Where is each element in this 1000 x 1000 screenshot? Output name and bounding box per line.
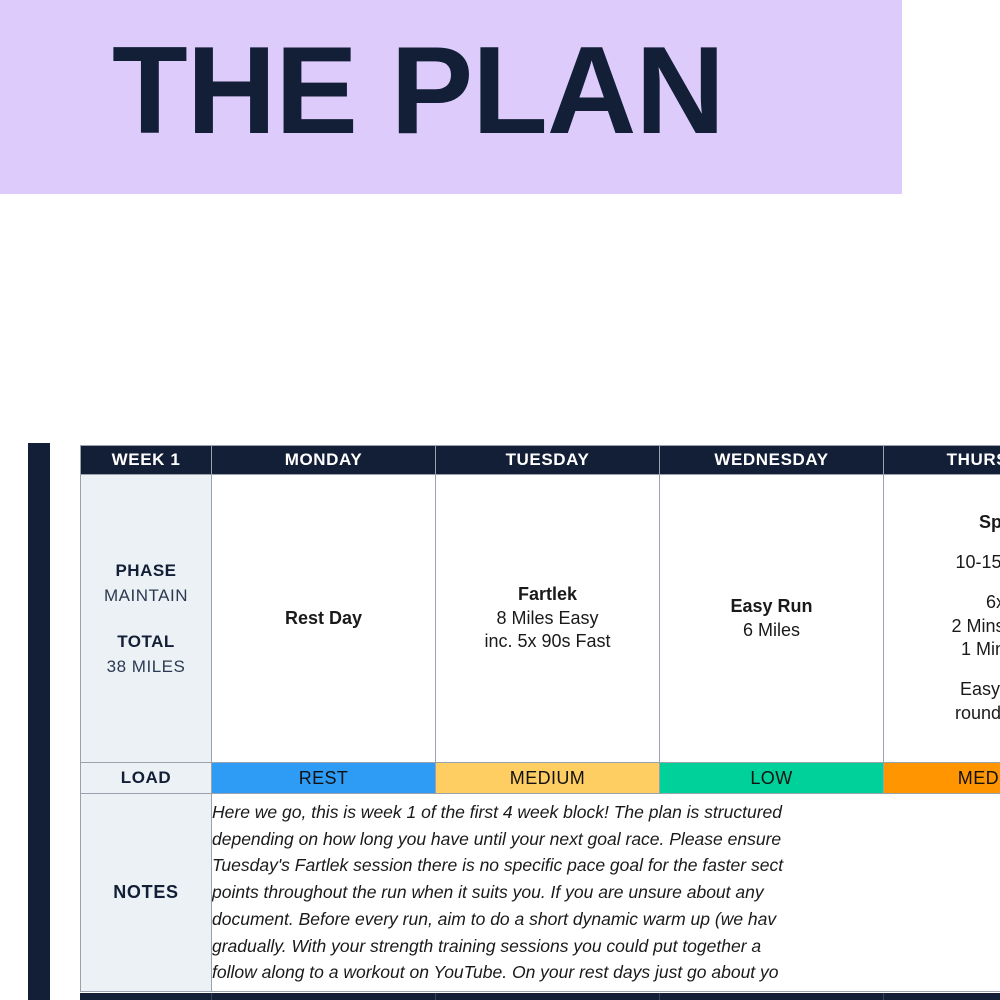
load-cell-wednesday[interactable]: LOW (660, 763, 884, 794)
notes-line-2: depending on how long you have until you… (212, 826, 1000, 853)
header-2-monday[interactable]: MONDAY (212, 994, 436, 1000)
load-cell-thursday[interactable]: MEDIUM (884, 763, 1000, 794)
notes-line-5: document. Before every run, aim to do a … (212, 906, 1000, 933)
header-2-tuesday[interactable]: TUESDAY (436, 994, 660, 1000)
notes-line-3: Tuesday's Fartlek session there is no sp… (212, 852, 1000, 879)
table-2-header-row: WEEK 2 MONDAY TUESDAY WEDNESDAY THURSDAY (81, 994, 1000, 1000)
page-title: THE PLAN (112, 26, 724, 156)
session-detail-thursday-4: 2 Mins at 5 (884, 615, 1000, 639)
session-title-wednesday: Easy Run (660, 595, 883, 619)
header-tuesday[interactable]: TUESDAY (436, 446, 660, 475)
load-row: LOAD REST MEDIUM LOW MEDIUM (81, 763, 1000, 794)
session-title-thursday: Spe (884, 511, 1000, 535)
sidebar-accent-strip (28, 443, 50, 1000)
session-cell-monday[interactable]: Rest Day (212, 475, 436, 763)
header-thursday[interactable]: THURSDAY (884, 446, 1000, 475)
total-value: 38 MILES (107, 657, 186, 676)
thursday-spacer-3 (884, 662, 1000, 678)
load-label: LOAD (81, 763, 212, 794)
session-detail-wednesday-1: 6 Miles (660, 619, 883, 643)
notes-line-7: follow along to a workout on YouTube. On… (212, 959, 1000, 986)
header-wednesday[interactable]: WEDNESDAY (660, 446, 884, 475)
notes-row: NOTES Here we go, this is week 1 of the … (81, 794, 1000, 992)
session-cell-tuesday[interactable]: Fartlek 8 Miles Easy inc. 5x 90s Fast (436, 475, 660, 763)
load-cell-monday[interactable]: REST (212, 763, 436, 794)
session-title-monday: Rest Day (212, 607, 435, 631)
title-banner: THE PLAN (0, 0, 902, 194)
sessions-row: PHASE MAINTAIN TOTAL 38 MILES Rest Day F… (81, 475, 1000, 763)
header-2-thursday[interactable]: THURSDAY (884, 994, 1000, 1000)
session-detail-thursday-7: Easy run (884, 678, 1000, 702)
session-cell-thursday[interactable]: Spe 10-15 Min 6x 2 Mins at 5 1 Minute Ea… (884, 475, 1000, 763)
session-detail-thursday-5: 1 Minute (884, 638, 1000, 662)
session-detail-thursday-3: 6x (884, 591, 1000, 615)
notes-line-4: points throughout the run when it suits … (212, 879, 1000, 906)
header-2-wednesday[interactable]: WEDNESDAY (660, 994, 884, 1000)
notes-line-1: Here we go, this is week 1 of the first … (212, 799, 1000, 826)
session-title-tuesday: Fartlek (436, 583, 659, 607)
thursday-spacer-2 (884, 575, 1000, 591)
training-plan-table-next-week: WEEK 2 MONDAY TUESDAY WEDNESDAY THURSDAY (80, 993, 1000, 1000)
table-header-row: WEEK 1 MONDAY TUESDAY WEDNESDAY THURSDAY (81, 446, 1000, 475)
total-label: TOTAL (117, 632, 175, 651)
session-detail-tuesday-2: inc. 5x 90s Fast (436, 630, 659, 654)
notes-line-6: gradually. With your strength training s… (212, 933, 1000, 960)
phase-value: MAINTAIN (104, 586, 188, 605)
session-detail-thursday-8: round up t (884, 702, 1000, 726)
session-detail-tuesday-1: 8 Miles Easy (436, 607, 659, 631)
session-cell-wednesday[interactable]: Easy Run 6 Miles (660, 475, 884, 763)
thursday-spacer-1 (884, 535, 1000, 551)
load-cell-tuesday[interactable]: MEDIUM (436, 763, 660, 794)
header-week[interactable]: WEEK 1 (81, 446, 212, 475)
summary-spacer (81, 609, 211, 629)
session-detail-thursday-1: 10-15 Min (884, 551, 1000, 575)
notes-content[interactable]: Here we go, this is week 1 of the first … (212, 794, 1000, 992)
header-2-week[interactable]: WEEK 2 (81, 994, 212, 1000)
notes-label: NOTES (81, 794, 212, 992)
training-plan-table: WEEK 1 MONDAY TUESDAY WEDNESDAY THURSDAY… (80, 445, 1000, 992)
header-monday[interactable]: MONDAY (212, 446, 436, 475)
week-summary-cell: PHASE MAINTAIN TOTAL 38 MILES (81, 475, 212, 763)
phase-label: PHASE (115, 561, 176, 580)
